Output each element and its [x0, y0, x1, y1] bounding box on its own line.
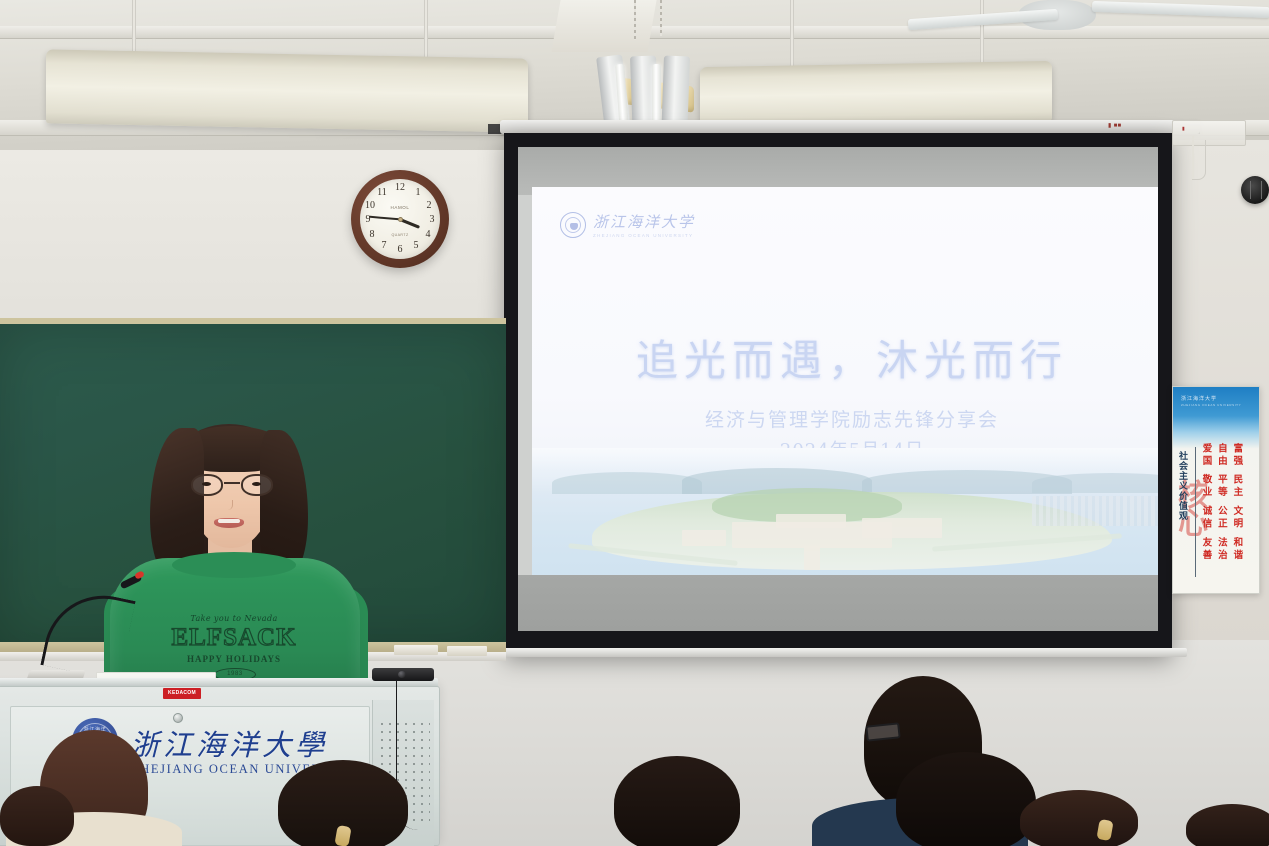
classroom-photo-scene: ▮ ■■ 浙江海洋大学 ZHEJIANG OCEAN UNIVERSITY 追光… — [0, 0, 1269, 846]
projection-screen-weight-bar[interactable] — [487, 648, 1187, 657]
light-rod — [980, 0, 984, 66]
camera-lens-icon — [398, 671, 406, 678]
clock-numeral: 5 — [410, 240, 422, 251]
clock-numeral: 8 — [366, 229, 378, 240]
light-rod — [132, 0, 136, 56]
campus-building — [682, 530, 726, 546]
projection-screen-surface: 浙江海洋大学 ZHEJIANG OCEAN UNIVERSITY 追光而遇，沐光… — [518, 147, 1158, 631]
clock-center-pin — [398, 217, 403, 222]
slide-title: 追光而遇，沐光而行 — [532, 327, 1158, 388]
poster-title: 社会主义价值观 — [1176, 451, 1189, 521]
hanging-cable — [1192, 140, 1206, 180]
clock-numeral: 1 — [412, 187, 424, 198]
poster-header-cn: 浙江海洋大学 — [1181, 395, 1217, 402]
wall-speaker-icon — [1241, 176, 1269, 204]
poster-column: 爱国 敬业 诚信 友善 — [1200, 443, 1210, 562]
clock-brand: HAMOL — [390, 205, 409, 210]
sweatshirt-brand-text: ELFSACK — [158, 624, 310, 652]
slide-logo-cn: 浙江海洋大学 — [593, 211, 695, 232]
ceiling-plate — [551, 0, 656, 52]
hill — [1032, 473, 1158, 493]
lectern-brand-badge: KEDACOM — [163, 688, 201, 699]
audience-head — [1020, 790, 1138, 846]
lectern-university-name-cn: 浙江海洋大學 — [130, 722, 328, 764]
teeth — [218, 519, 240, 523]
clock-numeral: 10 — [364, 200, 376, 211]
clock-hour-hand — [399, 218, 420, 229]
poster-value-columns: 富强 民主 文明 和谐 自由 平等 公正 法治 爱国 敬业 诚信 友善 — [1200, 443, 1241, 562]
light-chain — [634, 0, 636, 40]
clock-numeral: 6 — [394, 244, 406, 255]
glasses-bridge — [224, 482, 240, 484]
clock-numeral: 3 — [426, 214, 438, 225]
audience-head — [614, 756, 740, 846]
wall-clock: HAMOL QUARTZ 12 1 2 3 4 5 6 7 8 9 10 11 — [351, 170, 449, 268]
clock-numeral: 2 — [423, 200, 435, 211]
audience-head — [896, 752, 1036, 846]
eye — [252, 482, 261, 486]
campus-building — [776, 514, 846, 528]
light-chain — [660, 0, 662, 36]
sweatshirt-script-text: Take you to Nevada — [174, 614, 294, 623]
slide-logo-en: ZHEJIANG OCEAN UNIVERSITY — [593, 233, 695, 238]
audience-head — [0, 786, 74, 846]
sweatshirt-subtext: HAPPY HOLIDAYS — [168, 654, 300, 664]
poster-header-en: ZHEJIANG OCEAN UNIVERSITY — [1181, 403, 1241, 407]
eyeglasses-icon — [190, 474, 274, 496]
screen-vignette-bottom — [518, 575, 1158, 631]
campus-plaza — [804, 546, 820, 570]
screen-rail-brand-label: ▮ ■■ — [1108, 122, 1121, 129]
projection-screen-rail[interactable] — [500, 120, 1200, 134]
eye — [202, 482, 211, 486]
presentation-slide: 浙江海洋大学 ZHEJIANG OCEAN UNIVERSITY 追光而遇，沐光… — [532, 187, 1158, 583]
slide-campus-photo — [532, 448, 1158, 583]
socialist-core-values-poster: 浙江海洋大学 ZHEJIANG OCEAN UNIVERSITY 核心 社会主义… — [1172, 386, 1260, 594]
slide-subtitle: 经济与管理学院励志先锋分享会 — [532, 405, 1158, 432]
poster-column: 富强 民主 文明 和谐 — [1231, 443, 1241, 562]
slide-university-logo: 浙江海洋大学 ZHEJIANG OCEAN UNIVERSITY — [560, 211, 695, 238]
wall-notice-mark: ▮ — [1182, 126, 1185, 132]
projection-screen: 浙江海洋大学 ZHEJIANG OCEAN UNIVERSITY 追光而遇，沐光… — [504, 133, 1172, 655]
slide-logo-text: 浙江海洋大学 ZHEJIANG OCEAN UNIVERSITY — [593, 211, 695, 238]
presenter: Take you to Nevada ELFSACK HAPPY HOLIDAY… — [110, 418, 360, 700]
hill — [552, 472, 702, 494]
chalk-eraser[interactable] — [394, 645, 438, 655]
distant-skyline — [1032, 496, 1158, 526]
poster-divider — [1195, 447, 1196, 577]
chalk-eraser[interactable] — [447, 646, 487, 656]
poster-column: 自由 平等 公正 法治 — [1215, 443, 1225, 562]
campus-building — [862, 518, 942, 538]
trough-light-fixture — [700, 61, 1052, 127]
audience-head — [1186, 804, 1269, 846]
light-rod — [424, 0, 428, 58]
university-emblem-icon — [560, 212, 586, 238]
clock-numeral: 7 — [378, 240, 390, 251]
clock-numeral: 11 — [376, 187, 388, 198]
wall-notice-board — [1172, 120, 1246, 146]
clock-numeral: 4 — [422, 229, 434, 240]
clock-face: HAMOL QUARTZ 12 1 2 3 4 5 6 7 8 9 10 11 — [360, 179, 440, 259]
light-rod — [790, 0, 794, 66]
trough-light-fixture — [46, 49, 528, 132]
clock-numeral: 12 — [394, 182, 406, 193]
clock-sub-brand: QUARTZ — [391, 233, 408, 238]
